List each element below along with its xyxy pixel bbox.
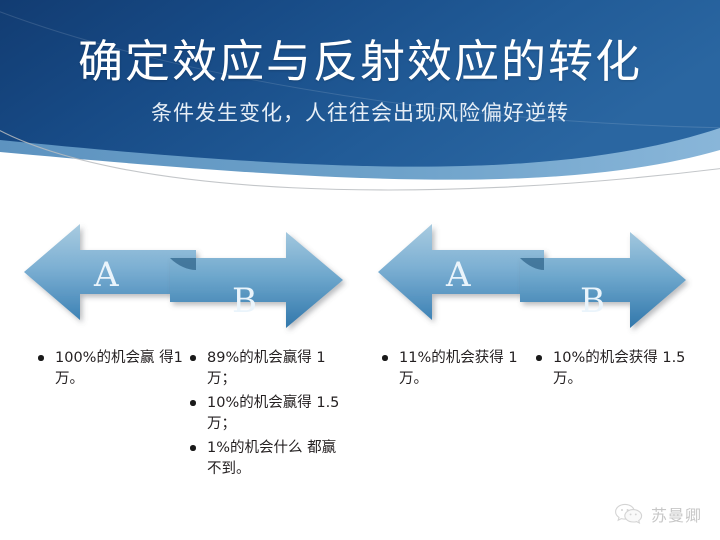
watermark: 苏曼卿	[614, 502, 702, 526]
list-item: 11%的机会获得 1万。	[380, 348, 532, 390]
header-banner: 确定效应与反射效应的转化 条件发生变化，人往往会出现风险偏好逆转	[0, 0, 720, 200]
bullet-dot-icon	[536, 355, 542, 361]
bullet-column-a-left: 100%的机会赢 得1万。	[36, 348, 186, 393]
arrow-b-left-label: B	[232, 281, 257, 321]
bullet-columns: 100%的机会赢 得1万。 89%的机会赢得 1万； 10%的机会赢得 1.5万…	[0, 348, 720, 498]
list-item: 1%的机会什么 都赢不到。	[188, 438, 348, 480]
wechat-inner-bubble	[625, 510, 642, 523]
arrow-pair-right-graphic: A B	[372, 208, 702, 348]
bullet-line: 10%的机会赢得	[207, 395, 312, 411]
bullet-line: 100%的机会赢	[55, 350, 154, 366]
bullet-column-b-right: 10%的机会获得 1.5万。	[534, 348, 699, 393]
list-item: 89%的机会赢得 1万；	[188, 348, 348, 390]
bullet-dot-icon	[190, 445, 196, 451]
watermark-label: 苏曼卿	[651, 502, 702, 526]
bullet-line: 1%的机会什么	[207, 440, 303, 456]
header-curve-graphic	[0, 0, 720, 200]
list-item: 10%的机会获得 1.5万。	[534, 348, 699, 390]
arrow-pair-left-graphic: A B	[18, 208, 363, 348]
bullet-line: 89%的机会赢得	[207, 350, 312, 366]
bullet-column-a-right: 11%的机会获得 1万。	[380, 348, 532, 393]
bullet-dot-icon	[190, 355, 196, 361]
bullet-column-b-left: 89%的机会赢得 1万； 10%的机会赢得 1.5万； 1%的机会什么 都赢不到…	[188, 348, 348, 483]
arrow-a-left-label: A	[93, 255, 119, 295]
header-main-shape	[0, 0, 720, 167]
wechat-dot-left	[630, 513, 632, 515]
wechat-dot-right	[635, 513, 637, 515]
bullet-dot-icon	[382, 355, 388, 361]
bullet-line: 10%的机会获得	[553, 350, 658, 366]
arrow-b-right-label: B	[580, 281, 605, 321]
bullet-dot-icon	[38, 355, 44, 361]
list-item: 10%的机会赢得 1.5万；	[188, 393, 348, 435]
wechat-eye-left	[621, 509, 623, 511]
list-item: 100%的机会赢 得1万。	[36, 348, 186, 390]
arrow-a-right-label: A	[445, 255, 471, 295]
bullet-dot-icon	[190, 400, 196, 406]
arrow-pair-right: A B	[372, 208, 702, 348]
slide-canvas: 确定效应与反射效应的转化 条件发生变化，人往往会出现风险偏好逆转	[0, 0, 720, 540]
wechat-icon	[614, 502, 644, 526]
bullet-line: 11%的机会获得	[399, 350, 504, 366]
arrow-pair-left: A B	[18, 208, 363, 348]
